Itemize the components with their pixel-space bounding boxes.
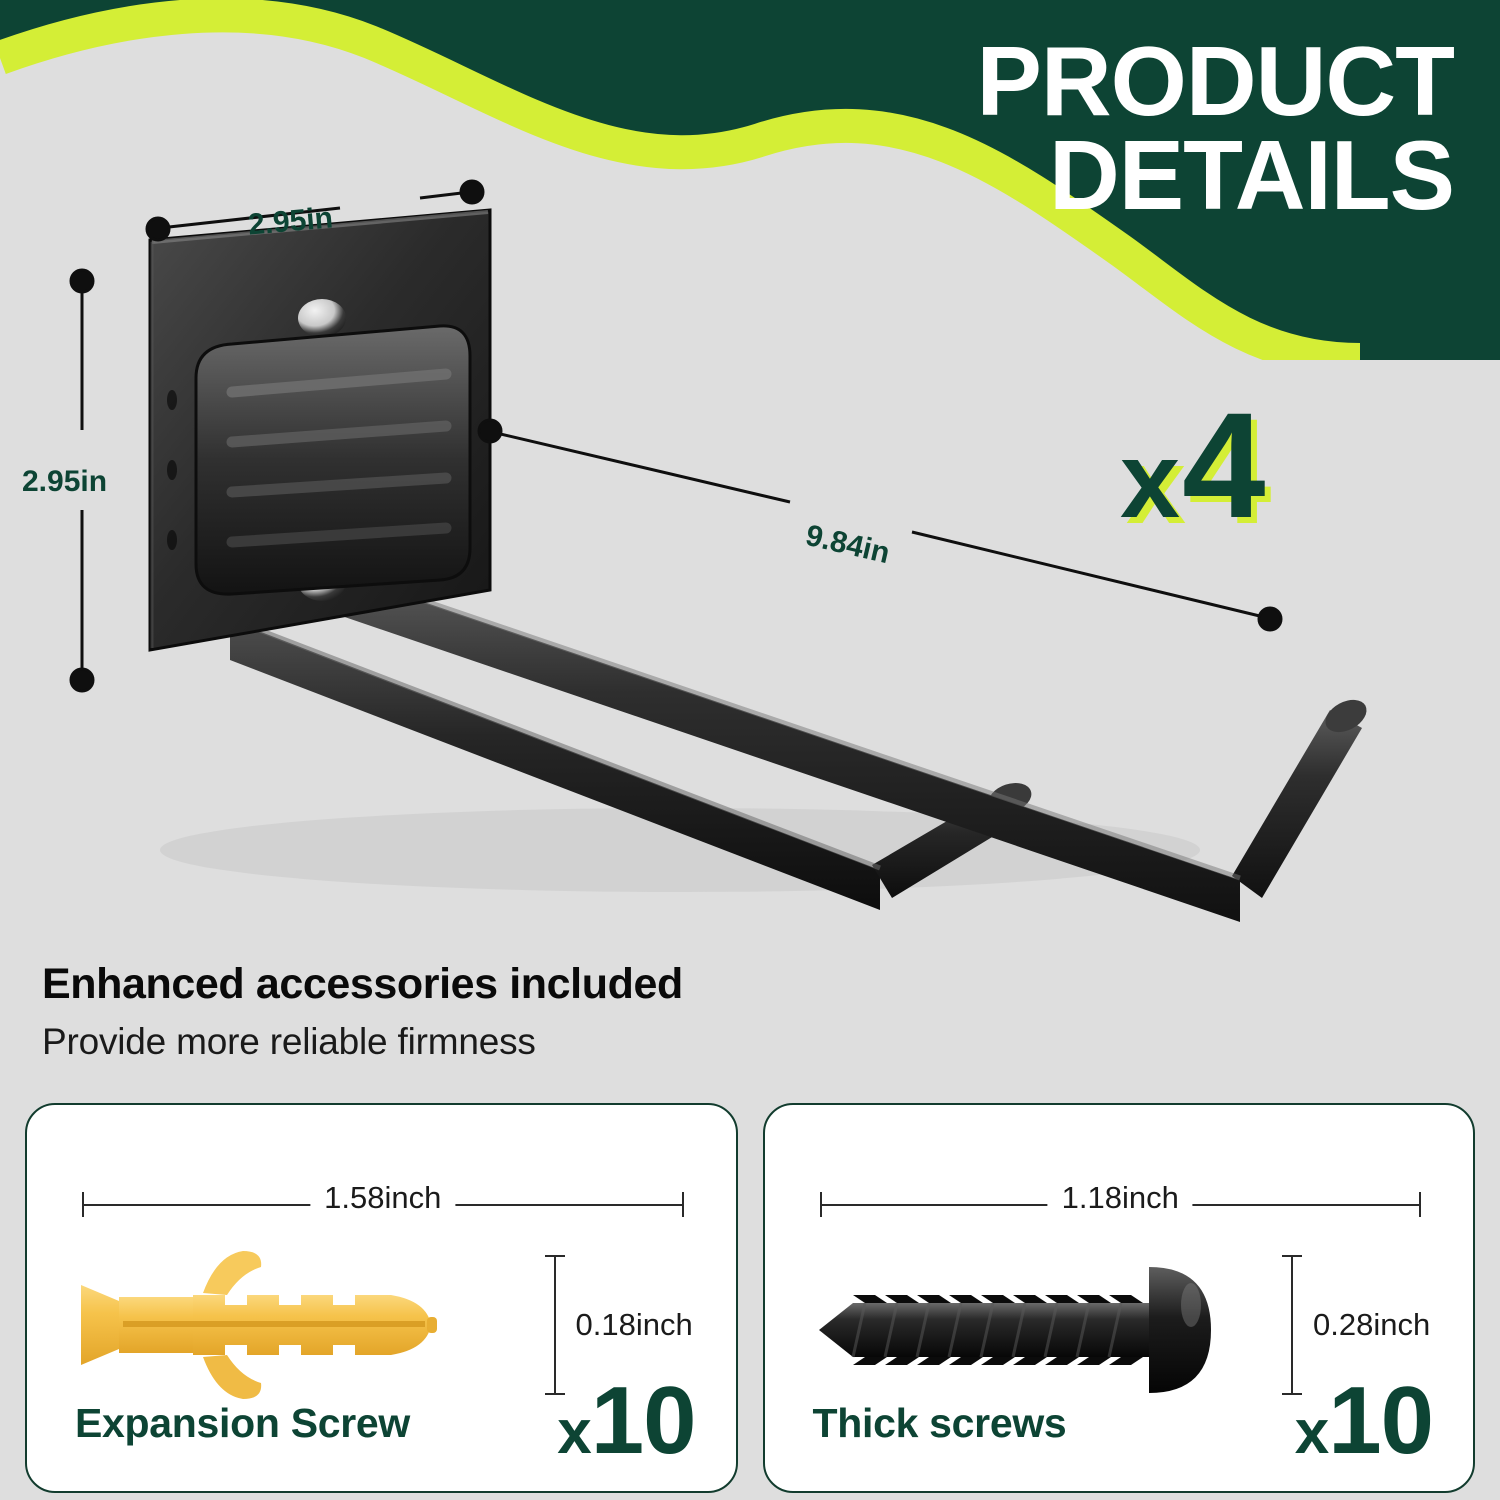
page-title-line2: DETAILS <box>814 128 1454 222</box>
dimension-cap-left <box>82 1192 84 1217</box>
quantity-badge-x: x <box>1120 419 1182 540</box>
copy-block: Enhanced accessories included Provide mo… <box>42 960 683 1063</box>
accessory-thickness-dimension: 0.18inch <box>554 1255 556 1395</box>
dimension-rule <box>554 1255 556 1395</box>
expansion-anchor-illustration <box>75 1245 535 1405</box>
accessory-length-dimension: 1.58inch <box>82 1191 684 1217</box>
accessory-quantity: x10 <box>1295 1373 1433 1469</box>
mounting-plate <box>150 210 490 650</box>
accessory-thickness-label: 0.18inch <box>576 1307 693 1343</box>
dimension-cap-right <box>682 1192 684 1217</box>
dimension-label-height: 2.95in <box>22 465 107 499</box>
accessory-name-label: Expansion Screw <box>75 1400 410 1447</box>
accessory-quantity: x10 <box>557 1373 695 1469</box>
page-title: PRODUCT DETAILS <box>814 34 1454 222</box>
accessory-quantity-number: 10 <box>591 1367 696 1474</box>
accessory-quantity-x: x <box>557 1398 590 1467</box>
accessory-name-label: Thick screws <box>813 1400 1067 1447</box>
copy-subheading: Provide more reliable firmness <box>42 1021 683 1063</box>
dimension-rule <box>1291 1255 1293 1395</box>
accessory-thickness-dimension: 0.28inch <box>1291 1255 1293 1395</box>
accessory-length-dimension: 1.18inch <box>820 1191 1422 1217</box>
accessory-card-thick-screws: 1.18inch 0.28inch <box>763 1103 1476 1493</box>
accessory-cards: 1.58inch 0.18inch <box>0 1103 1500 1493</box>
accessory-quantity-x: x <box>1295 1398 1328 1467</box>
quantity-badge-x4: x4 <box>1120 390 1268 540</box>
dimension-cap-left <box>820 1192 822 1217</box>
accessory-thickness-label: 0.28inch <box>1313 1307 1430 1343</box>
accessory-quantity-number: 10 <box>1328 1367 1433 1474</box>
accessory-length-label: 1.18inch <box>1048 1180 1193 1216</box>
accessory-length-label: 1.58inch <box>310 1180 455 1216</box>
plate-ribbed-bracket <box>196 326 470 594</box>
quantity-badge-number: 4 <box>1182 381 1267 549</box>
dimension-cap-right <box>1419 1192 1421 1217</box>
copy-heading: Enhanced accessories included <box>42 960 683 1009</box>
thick-screw-illustration <box>813 1245 1283 1415</box>
garage-hook-illustration <box>0 150 1500 950</box>
product-image-stage <box>0 150 1500 950</box>
screw-hole-top <box>298 299 346 337</box>
dimension-cap-top <box>1282 1255 1302 1257</box>
dimension-cap-top <box>545 1255 565 1257</box>
accessory-card-expansion-screw: 1.58inch 0.18inch <box>25 1103 738 1493</box>
